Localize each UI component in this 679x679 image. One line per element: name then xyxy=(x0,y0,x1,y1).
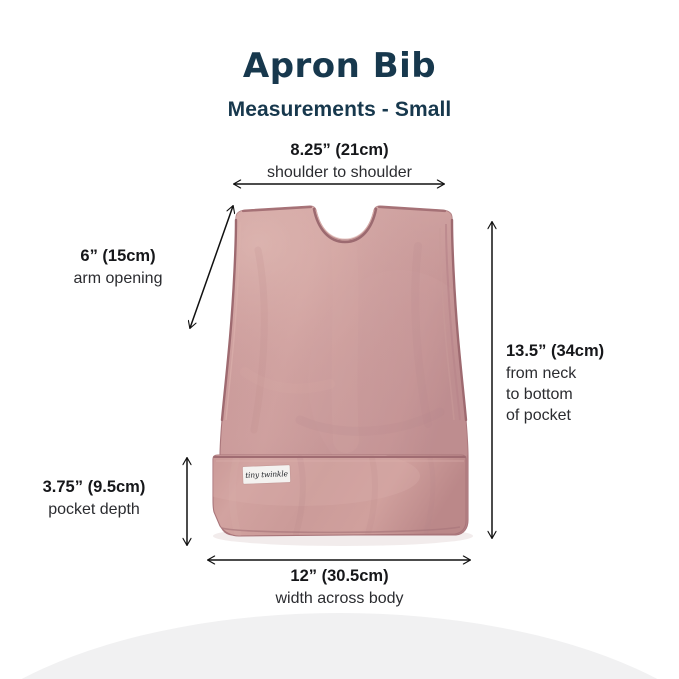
measurement-value-arm-opening: 6” (15cm) xyxy=(28,246,208,268)
measurement-description-body-width: width across body xyxy=(0,588,679,609)
brand-tag-text: tiny twinkle xyxy=(243,465,291,484)
measurement-value-shoulder: 8.25” (21cm) xyxy=(0,140,679,162)
measurement-description-shoulder: shoulder to shoulder xyxy=(0,162,679,183)
measurement-value-body-width: 12” (30.5cm) xyxy=(0,566,679,588)
measurement-diagram-page: Apron Bib Measurements - Small xyxy=(0,0,679,679)
measurement-description-neck-to-pocket-line-1: from neck xyxy=(506,363,676,384)
measurement-label-arm-opening: 6” (15cm) arm opening xyxy=(28,246,208,289)
measurement-label-neck-to-pocket: 13.5” (34cm) from neck to bottom of pock… xyxy=(506,341,676,426)
brand-tag: tiny twinkle xyxy=(243,465,291,484)
measurement-description-neck-to-pocket-line-3: of pocket xyxy=(506,405,676,426)
measurement-label-shoulder: 8.25” (21cm) shoulder to shoulder xyxy=(0,140,679,183)
measurement-label-pocket-depth: 3.75” (9.5cm) pocket depth xyxy=(8,477,180,520)
measurement-value-pocket-depth: 3.75” (9.5cm) xyxy=(8,477,180,499)
bib-garment xyxy=(150,160,492,546)
measurement-label-body-width: 12” (30.5cm) width across body xyxy=(0,566,679,609)
measurement-description-arm-opening: arm opening xyxy=(28,268,208,289)
measurement-description-neck-to-pocket-line-2: to bottom xyxy=(506,384,676,405)
measurement-description-pocket-depth: pocket depth xyxy=(8,499,180,520)
measurement-value-neck-to-pocket: 13.5” (34cm) xyxy=(506,341,676,363)
